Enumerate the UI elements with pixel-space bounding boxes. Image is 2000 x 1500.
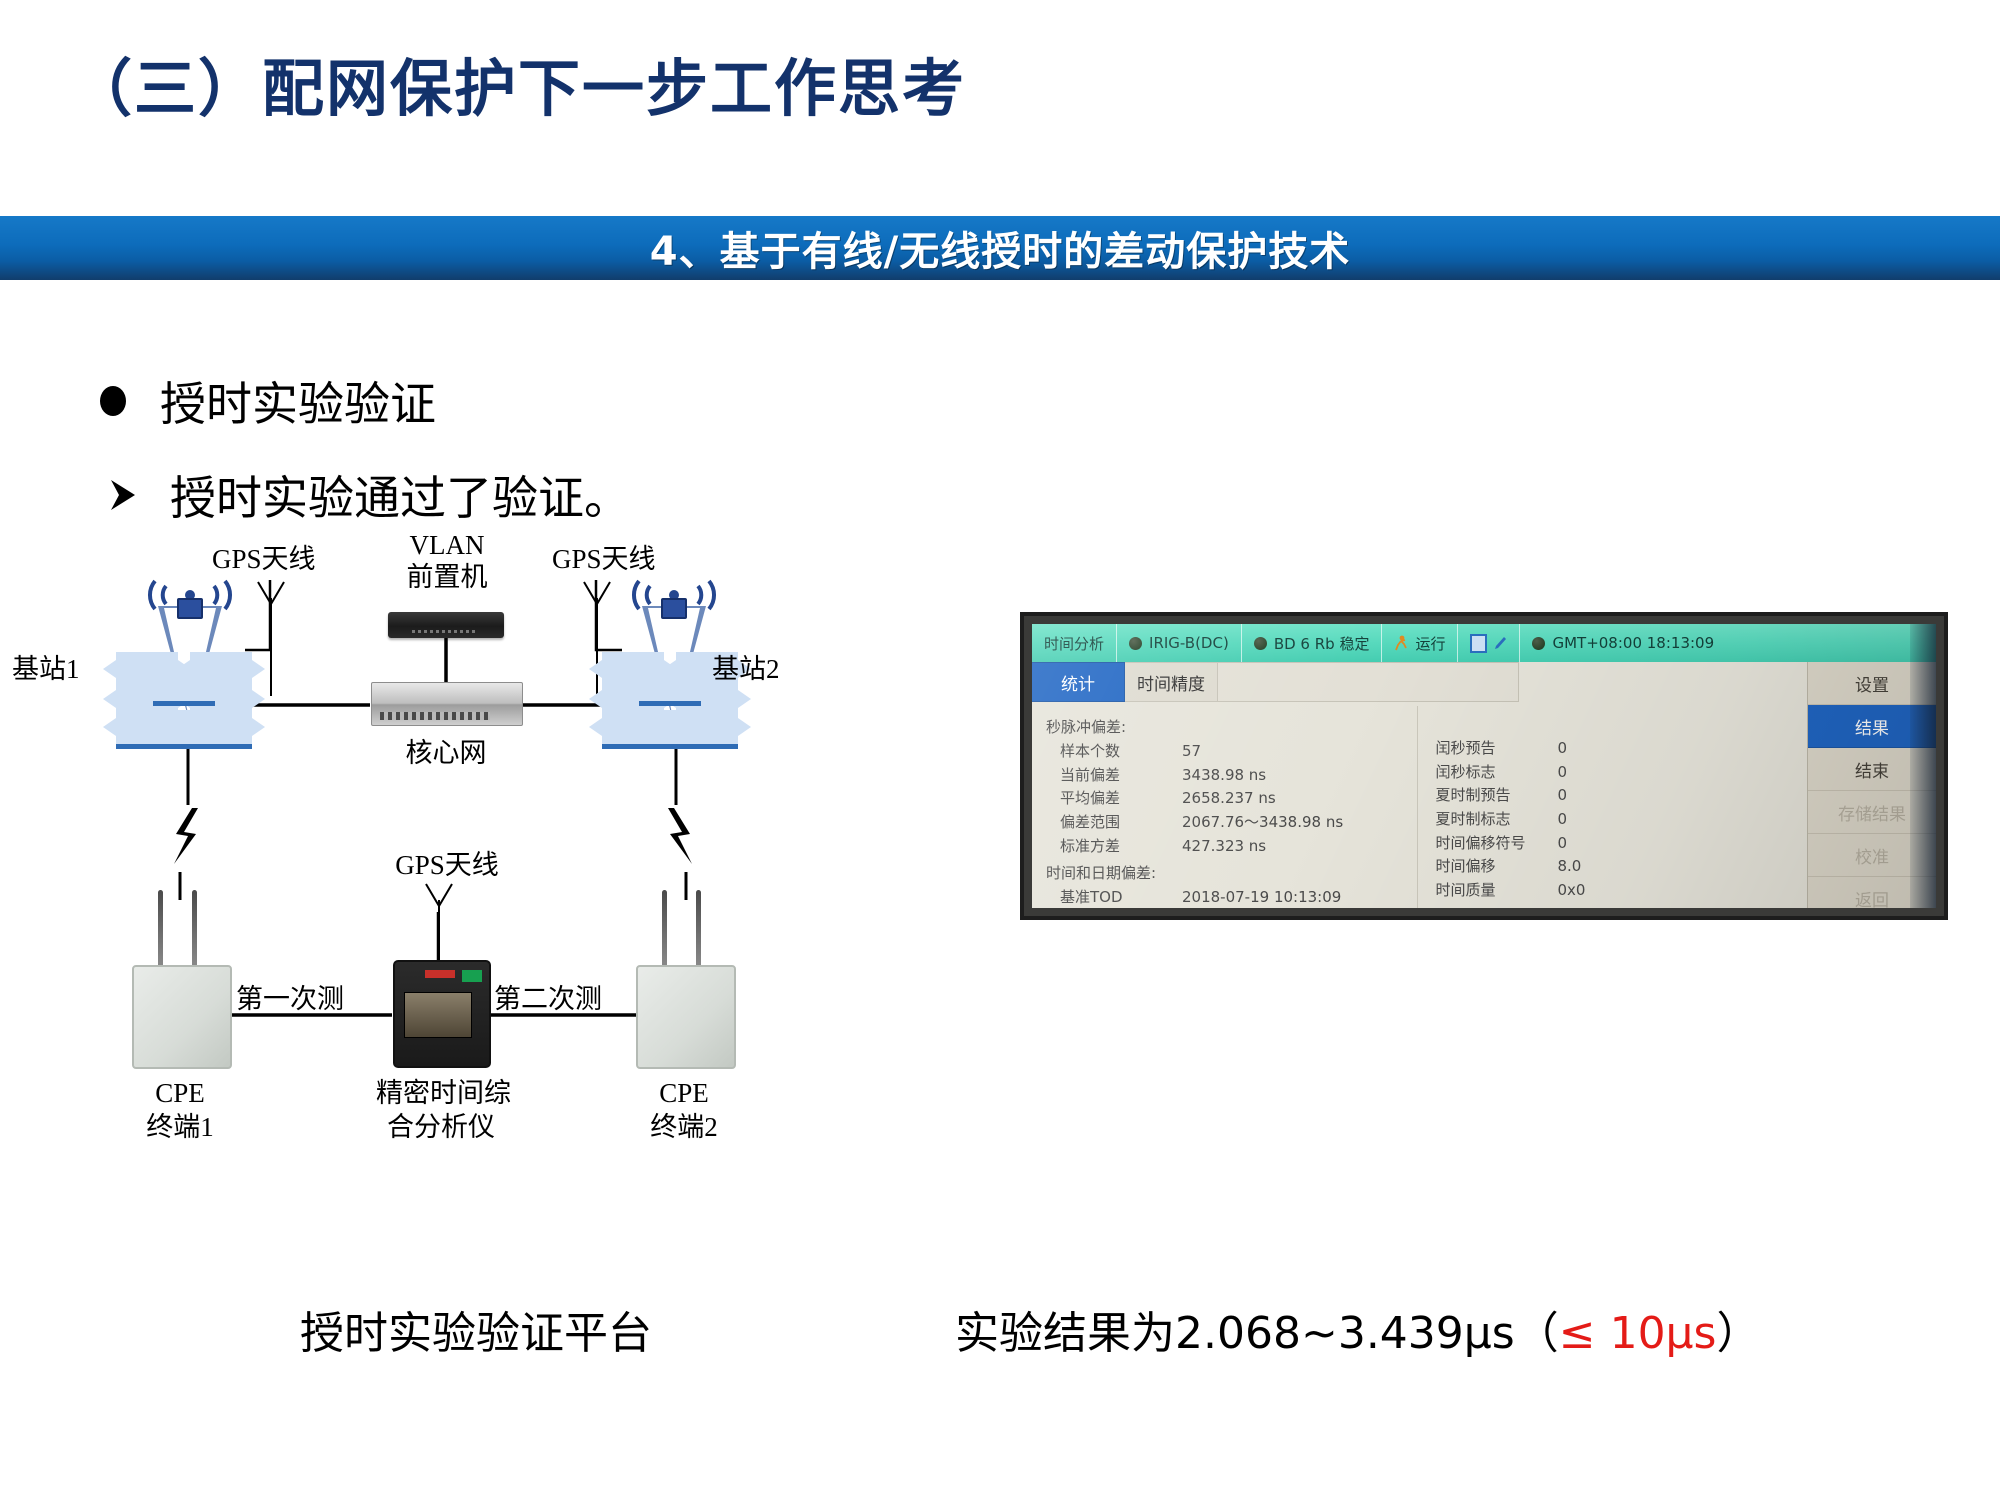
core-network-server-icon [371,682,523,726]
row-value: 0 [1558,808,1807,832]
cpe-terminal-1-icon [132,965,232,1069]
table-row: 时间质量 0x0 [1436,879,1807,903]
status-cell-bd: BD 6 Rb 稳定 [1242,624,1383,662]
gps-antenna-label-right: GPS天线 [552,544,656,576]
status-cell-icons [1458,624,1520,662]
table-row: 时间偏移符号 0 [1436,832,1807,856]
status-led-icon-1 [1129,637,1142,650]
gps-antenna-label-center: GPS天线 [392,850,502,882]
row-value: 0 [1558,784,1807,808]
base-station-1-label: 基站1 [12,654,80,686]
base-station-2-label: 基站2 [712,654,780,686]
table-row: 样本个数 57 [1046,740,1417,764]
tab-time-accuracy[interactable]: 时间精度 [1125,662,1218,702]
status-mode-label: 时间分析 [1044,633,1104,654]
first-measurement-label: 第一次测 [236,984,344,1016]
table-row: SBS 65589 [1436,903,1807,908]
row-value: 8.0 [1558,855,1807,879]
row-key: SBS [1436,903,1558,908]
vlan-front-end-device-icon [388,612,504,638]
row-key: 基准TOD [1046,886,1182,908]
gps-antenna-icon-center [422,882,456,967]
row-key: 标准方差 [1046,835,1182,859]
runner-icon [1394,635,1408,651]
instrument-status-bar: 时间分析 IRIG-B(DC) BD 6 Rb 稳定 运行 [1032,624,1936,662]
status-cell-time: GMT+08:00 18:13:09 [1520,624,1726,662]
cpe-terminal-2-icon [636,965,736,1069]
core-network-label: 核心网 [391,738,501,770]
row-key: 时间偏移符号 [1436,832,1558,856]
results-right-column: 闰秒预告 0 闰秒标志 0 夏时制预告 0 夏时制标志 [1417,706,1807,908]
row-value: 2658.237 ns [1182,787,1417,811]
row-key: 偏差范围 [1046,811,1182,835]
cpe2-antenna-left [662,890,667,968]
results-table: 秒脉冲偏差: 样本个数 57 当前偏差 3438.98 ns 平均偏差 2658… [1032,706,1806,908]
gps-antenna-label-left: GPS天线 [212,544,316,576]
table-row: 闰秒预告 0 [1436,737,1807,761]
page-icon [1470,634,1487,653]
status-bd-label: BD 6 Rb 稳定 [1274,633,1370,654]
row-value: 2018-07-19 10:13:09 [1182,886,1417,908]
timing-test-platform-diagram: GPS天线 VLAN 前置机 GPS天线 [40,560,800,1280]
tab-empty-area [1218,662,1519,702]
row-value: 0 [1558,761,1807,785]
row-value: 0 [1558,832,1807,856]
row-value: 65589 [1558,903,1807,908]
table-row: 时间偏移 8.0 [1436,855,1807,879]
status-cell-run: 运行 [1382,624,1458,662]
tab-statistics[interactable]: 统计 [1032,662,1125,702]
row-value: 2067.76～3438.98 ns [1182,811,1417,835]
cpe1-label-line2: 终端1 [132,1112,228,1144]
row-key: 闰秒预告 [1436,737,1558,761]
status-cell-mode: 时间分析 [1032,624,1117,662]
table-row: 标准方差 427.323 ns [1046,835,1417,859]
analyzer-label-line1: 精密时间综 [376,1078,506,1110]
cpe2-label-line2: 终端2 [636,1112,732,1144]
left-caption: 授时实验验证平台 [300,1297,652,1361]
results-left-column: 秒脉冲偏差: 样本个数 57 当前偏差 3438.98 ns 平均偏差 2658… [1032,706,1417,908]
bullet-item-2: 授时实验通过了验证。 [108,462,630,528]
right-caption-prefix: 实验结果为2.068~3.439μs（ [955,1308,1559,1359]
table-row: 偏差范围 2067.76～3438.98 ns [1046,811,1417,835]
row-value: 427.323 ns [1182,835,1417,859]
table-row: 夏时制标志 0 [1436,808,1807,832]
table-row: 当前偏差 3438.98 ns [1046,764,1417,788]
filled-circle-icon [100,386,126,416]
table-row: 平均偏差 2658.237 ns [1046,787,1417,811]
precision-time-analyzer-icon [393,960,491,1068]
cpe1-antenna-left [158,890,163,968]
row-key: 时间偏移 [1436,855,1558,879]
group-title-pps-deviation: 秒脉冲偏差: [1046,716,1417,737]
cpe2-label-line1: CPE [636,1078,732,1110]
status-cell-irigb: IRIG-B(DC) [1117,624,1242,662]
status-time-label: GMT+08:00 18:13:09 [1552,634,1714,652]
row-key: 样本个数 [1046,740,1182,764]
row-key: 夏时制标志 [1436,808,1558,832]
status-led-icon-2 [1254,637,1267,650]
pen-icon [1494,636,1507,651]
instrument-body: 统计 时间精度 秒脉冲偏差: 样本个数 57 当前偏差 3438.98 ns [1032,662,1936,908]
bullet-item-1: 授时实验验证 [100,368,436,434]
bullet-text-1: 授时实验验证 [160,368,436,434]
instrument-screen: 时间分析 IRIG-B(DC) BD 6 Rb 稳定 运行 [1032,624,1936,908]
row-key: 闰秒标志 [1436,761,1558,785]
row-key: 平均偏差 [1046,787,1182,811]
row-value: 0 [1558,737,1807,761]
coverage-cells-icon-left [102,652,282,767]
row-value: 57 [1182,740,1417,764]
row-key: 夏时制预告 [1436,784,1558,808]
right-caption-highlight: ≤ 10μs [1559,1308,1717,1359]
vlan-label-line2: 前置机 [392,562,502,594]
status-irigb-label: IRIG-B(DC) [1149,634,1229,652]
right-caption-suffix: ） [1716,1308,1760,1359]
vlan-label-line1: VLAN [392,530,502,562]
row-key: 当前偏差 [1046,764,1182,788]
second-measurement-label: 第二次测 [494,984,602,1016]
banner-title: 4、基于有线/无线授时的差动保护技术 [650,219,1350,277]
status-run-label: 运行 [1415,633,1445,654]
table-row: 基准TOD 2018-07-19 10:13:09 [1046,886,1417,908]
right-caption: 实验结果为2.068~3.439μs（≤ 10μs） [955,1297,1760,1361]
row-value: 3438.98 ns [1182,764,1417,788]
section-banner: 4、基于有线/无线授时的差动保护技术 [0,216,2000,280]
bullet-text-2: 授时实验通过了验证。 [170,462,630,528]
slide-canvas: （三）配网保护下一步工作思考 4、基于有线/无线授时的差动保护技术 授时实验验证… [0,0,2000,1500]
table-row: 闰秒标志 0 [1436,761,1807,785]
photo-edge-shadow [1910,624,1936,908]
instrument-photo-panel: 时间分析 IRIG-B(DC) BD 6 Rb 稳定 运行 [1020,612,1948,920]
status-led-icon-3 [1532,637,1545,650]
cpe1-antenna-right [192,890,197,968]
group-title-time-date-deviation: 时间和日期偏差: [1046,862,1417,883]
arrow-bullet-icon [108,478,138,512]
row-value: 0x0 [1558,879,1807,903]
instrument-tab-bar: 统计 时间精度 [1032,662,1519,702]
page-title: （三）配网保护下一步工作思考 [70,38,966,128]
cpe1-label-line1: CPE [132,1078,228,1110]
analyzer-label-line2: 合分析仪 [376,1112,506,1144]
table-row: 夏时制预告 0 [1436,784,1807,808]
cpe2-antenna-right [696,890,701,968]
row-key: 时间质量 [1436,879,1558,903]
